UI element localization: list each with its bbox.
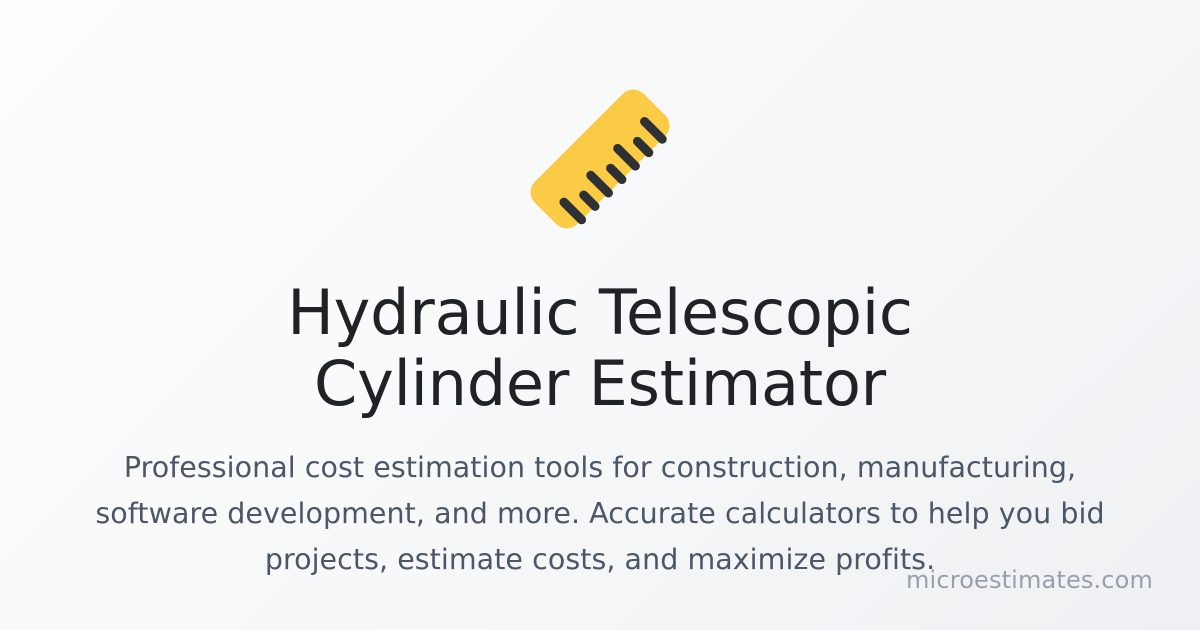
page-subtitle: Professional cost estimation tools for c… bbox=[94, 445, 1106, 582]
site-domain: microestimates.com bbox=[906, 568, 1153, 592]
og-card: Hydraulic Telescopic Cylinder Estimator … bbox=[0, 0, 1200, 630]
page-title: Hydraulic Telescopic Cylinder Estimator bbox=[160, 278, 1040, 419]
ruler-icon bbox=[515, 84, 685, 234]
